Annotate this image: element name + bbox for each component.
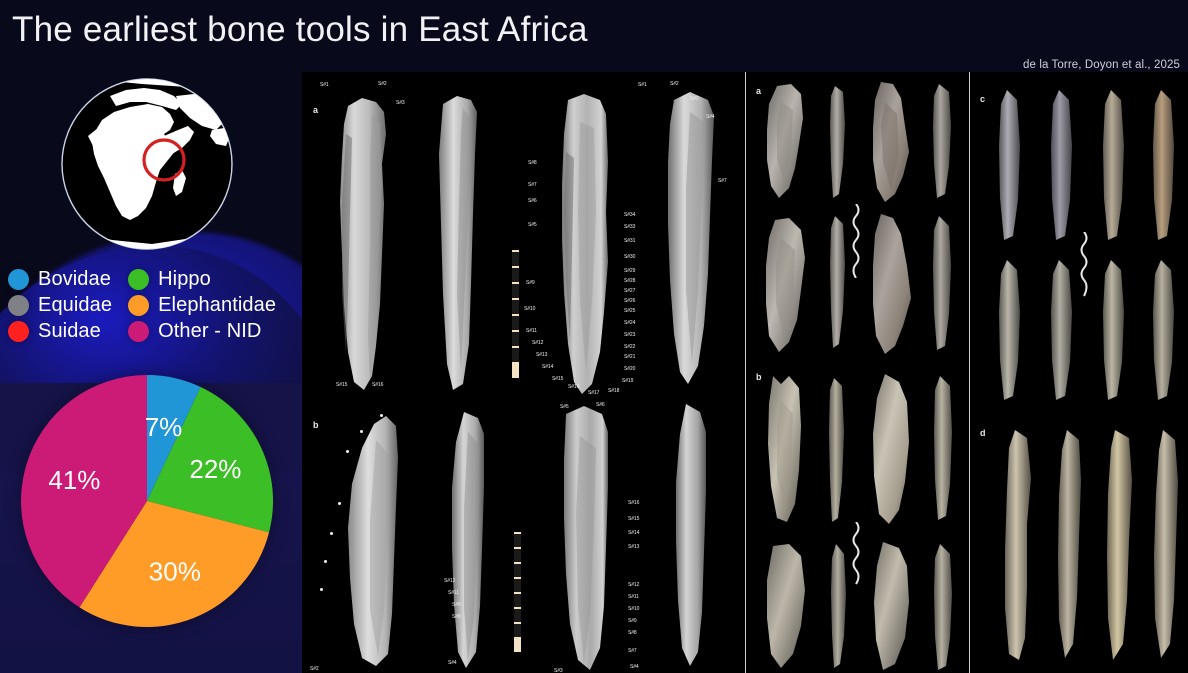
figure-column-right: c d (971, 72, 1188, 673)
scar-label-c-s24: S#24 (624, 320, 635, 326)
scar-label-b2-s12: S#12 (444, 578, 455, 584)
scar-dot-b1-2 (360, 430, 363, 433)
legend-label-hippo: Hippo (158, 268, 211, 291)
scar-label-c-s23: S#23 (624, 332, 635, 338)
scar-label-c-s13: S#13 (536, 352, 547, 358)
scar-label-c-s10: S#10 (524, 306, 535, 312)
panel-letter-left-b: b (313, 420, 319, 430)
scar-label-b2-s9: S#9 (452, 602, 461, 608)
scar-label-c-s22: S#22 (624, 344, 635, 350)
scar-label-a-s2: S#2 (378, 81, 387, 87)
citation-text: de la Torre, Doyon et al., 2025 (1023, 59, 1180, 71)
bone-render-b4 (664, 400, 722, 672)
panel-separator-v1 (745, 72, 746, 673)
bone-photo-c-v5 (993, 258, 1027, 404)
scar-label-c-s26: S#26 (624, 298, 635, 304)
scar-label-c-s16: S#16 (568, 384, 579, 390)
scar-label-c-s7: S#7 (528, 182, 537, 188)
bone-photo-c-v6 (1045, 258, 1079, 404)
scar-label-b3-s16: S#16 (628, 500, 639, 506)
scar-dot-b1-3 (346, 450, 349, 453)
scar-dot-b1-4 (338, 502, 341, 505)
panel-letter-right-d: d (980, 428, 986, 438)
bone-photo-a-v4 (927, 82, 957, 202)
scar-label-c-s29: S#29 (624, 268, 635, 274)
panel-letter-right-c: c (980, 94, 985, 104)
bone-photo-d-v1 (997, 428, 1041, 666)
scar-label-c-s14: S#14 (542, 364, 553, 370)
bone-photo-c-v1 (993, 88, 1027, 246)
scar-label-c-s6: S#6 (528, 198, 537, 204)
scar-label-a4-s1: S#1 (638, 82, 647, 88)
scar-label-a-s1: S#1 (320, 82, 329, 88)
scale-bar-b (514, 532, 521, 652)
scar-label-c-s11: S#11 (526, 328, 537, 334)
legend-label-other-nid: Other - NID (158, 320, 261, 343)
scar-label-c-s12: S#12 (532, 340, 543, 346)
scar-label-c-s9: S#9 (526, 280, 535, 286)
scar-label-b1-s2: S#2 (310, 666, 319, 672)
scar-dot-b1-6 (324, 560, 327, 563)
scar-label-b3-s9: S#9 (628, 618, 637, 624)
scar-label-c-s27: S#27 (624, 288, 635, 294)
scar-label-c-s19: S#19 (622, 378, 633, 384)
scar-label-c-s21: S#21 (624, 354, 635, 360)
pie-label-elephantidae: 30% (149, 556, 201, 586)
scar-dot-b1-7 (320, 588, 323, 591)
scar-label-c-s17: S#17 (588, 390, 599, 396)
pie-label-bovidae: 7% (145, 412, 183, 442)
bone-render-b1 (330, 410, 416, 672)
bone-photo-b-v6 (827, 542, 851, 672)
scar-label-b3-s6: S#6 (596, 402, 605, 408)
bone-render-b2 (438, 408, 500, 673)
scar-label-c-s18: S#18 (608, 388, 619, 394)
legend-item-bovidae[interactable]: Bovidae (8, 268, 112, 291)
bone-photo-a-v1 (759, 82, 811, 202)
scar-label-b3-s8: S#8 (628, 630, 637, 636)
bone-photo-a-v7 (865, 212, 917, 358)
legend-label-equidae: Equidae (38, 294, 112, 317)
scar-label-a4-s4: S#4 (706, 114, 715, 120)
scar-label-c-s5: S#5 (528, 222, 537, 228)
scar-label-b3-s10: S#10 (628, 606, 639, 612)
scar-label-b3-s15: S#15 (628, 516, 639, 522)
scale-marker-mid-b (851, 522, 861, 586)
scar-label-a-s3: S#3 (396, 100, 405, 106)
bone-photo-d-v4 (1147, 428, 1187, 666)
bone-render-a3 (550, 92, 622, 402)
bone-render-a1 (328, 94, 408, 394)
bone-photo-c-v4 (1147, 88, 1181, 246)
scale-marker-mid-a (851, 204, 861, 278)
scar-label-c-s8: S#8 (528, 160, 537, 166)
bone-photo-a-v3 (865, 80, 915, 206)
bone-photo-b-v1 (759, 374, 811, 526)
bone-photo-c-v3 (1097, 88, 1131, 246)
scar-label-c-s34: S#34 (624, 212, 635, 218)
legend-swatch-elephantidae (128, 295, 149, 316)
legend-swatch-hippo (128, 269, 149, 290)
bone-photo-d-v3 (1099, 428, 1141, 666)
scar-label-a4-s2: S#2 (670, 81, 679, 87)
scar-label-b3-s4: S#4 (630, 664, 639, 670)
bone-photo-b-v7 (865, 540, 917, 673)
legend-swatch-bovidae (8, 269, 29, 290)
scar-label-b3-s12: S#12 (628, 582, 639, 588)
bone-photo-b-v3 (863, 372, 917, 528)
figure-column-left: a (302, 72, 745, 673)
scar-label-b3-s11: S#11 (628, 594, 639, 600)
scar-label-c-s28: S#28 (624, 278, 635, 284)
bone-photo-a-v8 (927, 214, 957, 356)
scale-bar-a (512, 250, 519, 378)
bone-photo-b-v5 (759, 542, 813, 672)
bone-render-a2 (429, 94, 491, 394)
bone-photo-b-v4 (929, 374, 957, 526)
bone-photo-b-v8 (929, 542, 957, 673)
legend-item-suidae[interactable]: Suidae (8, 320, 112, 343)
scar-label-a-s16: S#16 (372, 382, 383, 388)
bone-photo-c-v2 (1045, 88, 1079, 246)
scar-label-c-s30: S#30 (624, 254, 635, 260)
legend-item-equidae[interactable]: Equidae (8, 294, 112, 317)
scale-marker-right-c (1079, 232, 1089, 298)
scar-label-b3-s3: S#3 (554, 668, 563, 673)
legend-item-elephantidae[interactable]: Elephantidae (128, 294, 276, 317)
bone-render-a4 (654, 90, 728, 390)
legend-label-suidae: Suidae (38, 320, 101, 343)
scar-label-c-s33: S#33 (624, 224, 635, 230)
taxa-pie-chart: 7%22%30%41% (18, 372, 276, 630)
bone-photo-a-v5 (759, 216, 813, 356)
bone-photo-b-v2 (825, 376, 849, 526)
panel-letter-left-a: a (313, 105, 318, 115)
bone-photo-a-v2 (825, 84, 851, 202)
legend-label-elephantidae: Elephantidae (158, 294, 276, 317)
scar-label-b3-s5: S#5 (560, 404, 569, 410)
legend-item-other-nid[interactable]: Other - NID (128, 320, 276, 343)
pie-label-other-nid: 41% (48, 465, 100, 495)
legend-item-hippo[interactable]: Hippo (128, 268, 276, 291)
bone-photo-d-v2 (1051, 428, 1091, 666)
pie-label-hippo: 22% (189, 454, 241, 484)
bone-render-b3 (546, 402, 624, 673)
globe-africa-inset (52, 74, 242, 259)
scar-dot-b1-1 (380, 414, 383, 417)
scar-label-b2-s11: S#11 (448, 590, 459, 596)
legend-swatch-equidae (8, 295, 29, 316)
scar-label-b3-s14: S#14 (628, 530, 639, 536)
scar-label-a4-s3: S#3 (690, 96, 699, 102)
scar-label-c-s20: S#20 (624, 366, 635, 372)
bone-tool-plates: a (302, 72, 1188, 673)
scar-label-c-s25: S#25 (624, 308, 635, 314)
bone-photo-c-v7 (1097, 258, 1131, 404)
taxa-legend: Bovidae Hippo Equidae Elephantidae Suida… (8, 268, 276, 343)
legend-swatch-suidae (8, 321, 29, 342)
legend-label-bovidae: Bovidae (38, 268, 111, 291)
figure-column-mid: a b (747, 72, 969, 673)
legend-swatch-other-nid (128, 321, 149, 342)
panel-separator-v2 (969, 72, 970, 673)
scar-dot-b1-5 (330, 532, 333, 535)
scar-label-a4-s7: S#7 (718, 178, 727, 184)
scar-label-c-s31: S#31 (624, 238, 635, 244)
scar-label-a-s15: S#15 (336, 382, 347, 388)
bone-photo-c-v8 (1147, 258, 1181, 404)
scar-label-b2-s4: S#4 (448, 660, 457, 666)
scar-label-c-s15: S#15 (552, 376, 563, 382)
scar-label-b3-s13: S#13 (628, 544, 639, 550)
bone-photo-a-v6 (825, 214, 851, 354)
scar-label-b3-s7: S#7 (628, 648, 637, 654)
scar-label-b2-s8: S#8 (452, 614, 461, 620)
page-title: The earliest bone tools in East Africa (12, 10, 588, 50)
